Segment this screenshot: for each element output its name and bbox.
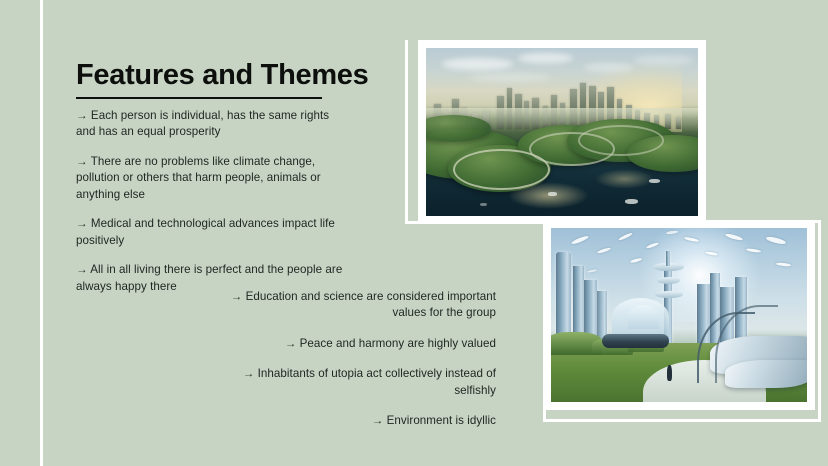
image-utopia-sky-city (551, 228, 807, 402)
slide-canvas: Features and Themes → Each person is ind… (0, 0, 828, 466)
list-item: → Environment is idyllic (230, 413, 496, 429)
page-title: Features and Themes (76, 60, 368, 92)
image-frame-utopia-sky-city (543, 220, 815, 410)
image-frame-utopia-green-city (418, 40, 706, 224)
frame-connector-line (405, 40, 408, 224)
list-item: → There are no problems like climate cha… (76, 154, 344, 203)
list-item: → Each person is individual, has the sam… (76, 108, 344, 141)
left-accent-rule (40, 0, 43, 466)
image-utopia-green-city (426, 48, 698, 216)
list-item: → Peace and harmony are highly valued (230, 336, 496, 352)
left-bullet-list: → Each person is individual, has the sam… (76, 108, 344, 295)
frame-connector-line (543, 419, 821, 422)
page-title-underline (76, 97, 322, 99)
list-item: → Inhabitants of utopia act collectively… (230, 366, 496, 399)
frame-connector-line (818, 220, 821, 422)
list-item: → Education and science are considered i… (230, 289, 496, 322)
list-item: → Medical and technological advances imp… (76, 216, 344, 249)
right-bullet-list: → Education and science are considered i… (230, 289, 496, 444)
